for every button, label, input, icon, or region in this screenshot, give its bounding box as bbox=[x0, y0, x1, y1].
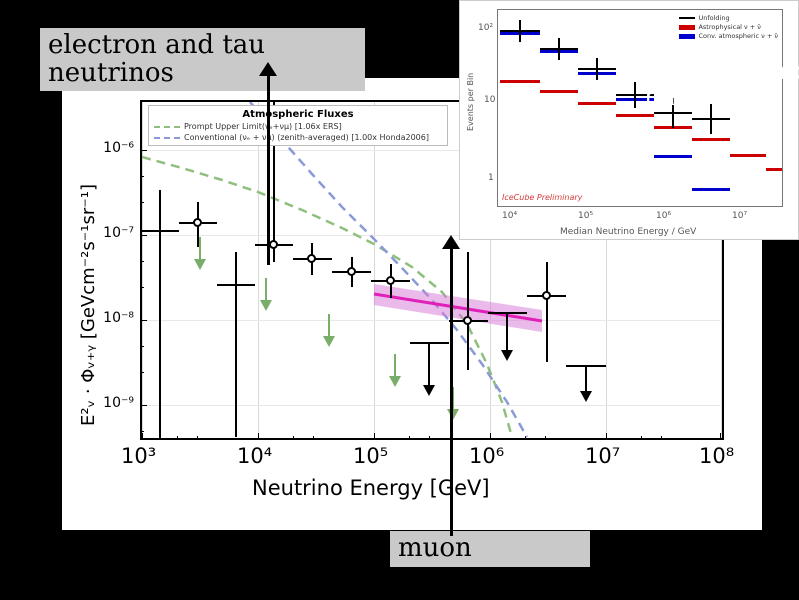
inset-x-tick-label: 10⁴ bbox=[502, 211, 517, 221]
legend-dash-green-icon bbox=[154, 126, 180, 128]
inset-x-axis-title: Median Neutrino Energy / GeV bbox=[560, 227, 696, 237]
legend-label: Unfolding bbox=[698, 14, 729, 22]
inset-x-tick-label: 10⁷ bbox=[732, 211, 747, 221]
x-tick-label: 10⁴ bbox=[237, 444, 272, 468]
prompt-limit-arrow-shaft bbox=[328, 314, 330, 338]
prompt-limit-arrow bbox=[260, 300, 272, 311]
y-axis-title: E²ᵥ · Φᵥ₊ᵧ [GeVcm⁻²s⁻¹sr⁻¹] bbox=[78, 184, 99, 426]
upper-limit-arrow bbox=[580, 391, 592, 402]
inset-legend-item-astro: Astrophysical ν + ν̄ bbox=[679, 23, 778, 31]
legend-swatch-blue-icon bbox=[679, 34, 695, 39]
prompt-limit-arrow bbox=[447, 409, 459, 420]
legend-label: Prompt Upper Limit(νₑ+νμ) [1.06x ERS] bbox=[184, 122, 342, 131]
data-bin-error bbox=[467, 252, 469, 370]
legend-label: Conventional (νₑ + νμ) (zenith-averaged)… bbox=[184, 133, 429, 142]
inset-astro-step bbox=[500, 80, 540, 83]
inset-astro-step bbox=[766, 168, 782, 171]
inset-data-error bbox=[558, 38, 560, 60]
y-tick-label: 10⁻⁶ bbox=[70, 140, 134, 156]
legend-label: Conv. atmospheric ν + ν̄ bbox=[698, 32, 778, 40]
annotation-electron-tau: electron and tau neutrinos bbox=[40, 28, 365, 91]
annotation-arrowhead-muon bbox=[442, 235, 460, 249]
inset-legend-item-conv: Conv. atmospheric ν + ν̄ bbox=[679, 32, 778, 40]
data-point-marker bbox=[269, 240, 278, 249]
overlay-tick-label-1: 10 2 bbox=[500, 252, 527, 296]
data-point-marker bbox=[463, 316, 472, 325]
inset-y-tick-label: 10 bbox=[484, 95, 495, 105]
data-point-marker bbox=[386, 276, 395, 285]
inset-astro-step bbox=[616, 114, 654, 117]
legend-dash-blue-icon bbox=[154, 137, 180, 139]
data-point-marker bbox=[307, 254, 316, 263]
annotation-arrow-shaft-muon bbox=[450, 248, 453, 536]
inset-astro-step bbox=[540, 90, 578, 93]
prompt-limit-arrow bbox=[389, 376, 401, 387]
prompt-limit-arrow-shaft bbox=[199, 237, 201, 261]
inset-data-error bbox=[634, 82, 636, 108]
data-bin-arrow-shaft bbox=[585, 365, 587, 393]
annotation-muon: muon bbox=[390, 531, 590, 567]
inset-y-tick-label: 1 bbox=[488, 173, 494, 183]
legend-title: Atmospheric Fluxes bbox=[154, 109, 442, 120]
annotation-arrowhead-electron-tau bbox=[259, 62, 277, 76]
upper-limit-arrow bbox=[501, 350, 513, 361]
inset-chart-panel: Unfolding Astrophysical ν + ν̄ Conv. atm… bbox=[459, 0, 799, 240]
data-bin-arrow-shaft bbox=[428, 342, 430, 387]
prompt-limit-arrow-shaft bbox=[265, 278, 267, 302]
inset-conv-step bbox=[654, 155, 692, 158]
x-tick-label: 10⁷ bbox=[585, 444, 620, 468]
data-bin-error bbox=[235, 252, 237, 437]
inset-astro-step bbox=[578, 102, 616, 105]
prompt-limit-arrow bbox=[194, 259, 206, 270]
inset-preliminary-label: IceCube Preliminary bbox=[502, 193, 582, 202]
legend-item-conventional: Conventional (νₑ + νμ) (zenith-averaged)… bbox=[154, 133, 442, 142]
overlay-tick-label-2: 10 4 bbox=[617, 252, 644, 296]
inset-data-error bbox=[596, 58, 598, 80]
x-tick-label: 10³ bbox=[121, 444, 156, 468]
legend-line-black-icon bbox=[679, 17, 695, 19]
x-tick-label: 10⁵ bbox=[353, 444, 388, 468]
inset-legend: Unfolding Astrophysical ν + ν̄ Conv. atm… bbox=[679, 13, 778, 40]
upper-limit-arrow bbox=[423, 385, 435, 396]
inset-conv-step bbox=[692, 188, 730, 191]
data-bin-error bbox=[546, 262, 548, 362]
annotation-cosmic: >120 cosmic nm bbox=[644, 58, 799, 111]
chart-legend: Atmospheric Fluxes Prompt Upper Limit(νₑ… bbox=[148, 105, 448, 146]
legend-item-prompt: Prompt Upper Limit(νₑ+νμ) [1.06x ERS] bbox=[154, 122, 442, 131]
data-point-marker bbox=[193, 218, 202, 227]
x-axis-title: Neutrino Energy [GeV] bbox=[252, 476, 490, 500]
inset-x-tick-label: 10⁶ bbox=[656, 211, 671, 221]
inset-legend-item-unfolding: Unfolding bbox=[679, 14, 778, 22]
x-tick-label: 10⁶ bbox=[469, 444, 504, 468]
legend-label: Astrophysical ν + ν̄ bbox=[698, 23, 760, 31]
prompt-limit-arrow bbox=[323, 336, 335, 347]
annotation-arrow-shaft-electron-tau bbox=[267, 75, 270, 265]
data-bin-arrow-shaft bbox=[506, 312, 508, 352]
data-bin-error bbox=[159, 190, 161, 440]
inset-y-axis-title: Events per Bin bbox=[466, 73, 475, 131]
inset-data-error bbox=[519, 20, 521, 42]
inset-x-tick-label: 10⁵ bbox=[578, 211, 593, 221]
inset-astro-step bbox=[730, 154, 766, 157]
inset-astro-step bbox=[692, 138, 730, 141]
data-point-marker bbox=[542, 291, 551, 300]
screenshot-root: Atmospheric Fluxes Prompt Upper Limit(νₑ… bbox=[0, 0, 799, 600]
x-tick-label: 10⁸ bbox=[699, 444, 734, 468]
overlay-tick-label-3: 10 6 bbox=[725, 252, 752, 296]
legend-swatch-red-icon bbox=[679, 25, 695, 30]
inset-y-tick-label: 10² bbox=[478, 23, 493, 33]
data-point-marker bbox=[347, 267, 356, 276]
prompt-limit-arrow-shaft bbox=[394, 354, 396, 378]
